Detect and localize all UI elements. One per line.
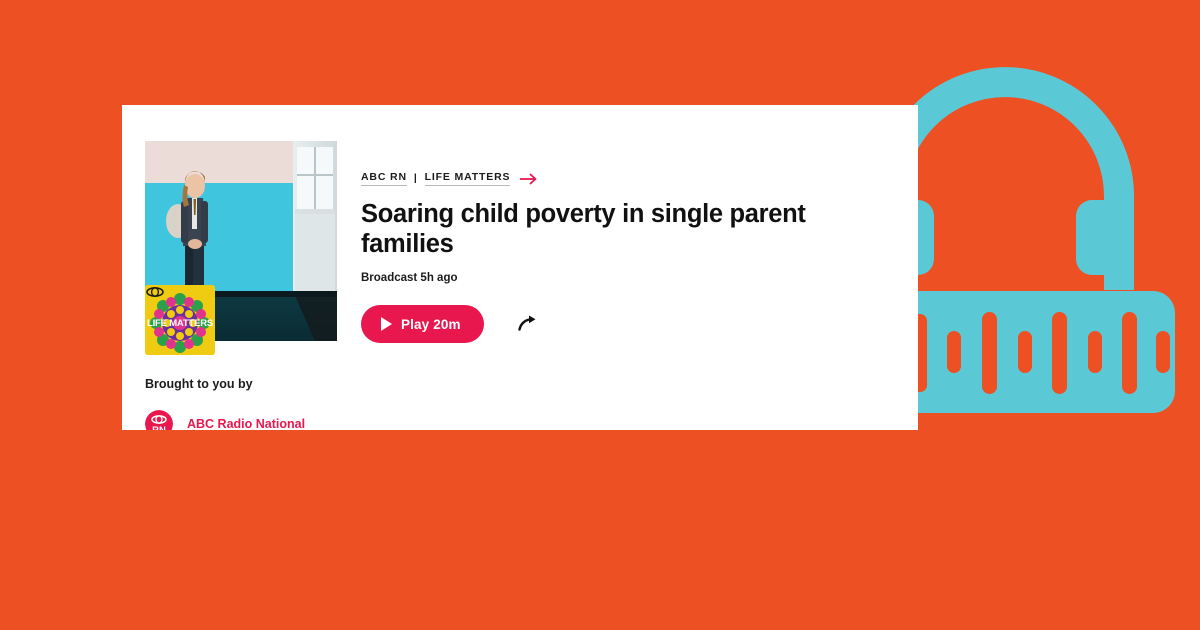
abc-radio-national-logo-icon: RN: [145, 410, 173, 430]
action-row: Play 20m: [361, 305, 891, 343]
share-arrow-icon: [518, 314, 538, 335]
podcast-badge[interactable]: LIFE MATTERS: [145, 285, 215, 355]
breadcrumb-separator: |: [414, 172, 418, 186]
link-abc-rn[interactable]: ABC RN: [361, 171, 407, 186]
broadcast-timestamp: Broadcast 5h ago: [361, 272, 891, 284]
sponsor-section: Brought to you by RN ABC Radio National: [145, 377, 545, 430]
breadcrumb: ABC RN | LIFE MATTERS: [361, 171, 891, 186]
play-triangle-icon: [381, 317, 392, 331]
sponsor-row[interactable]: RN ABC Radio National: [145, 410, 545, 430]
page-title: Soaring child poverty in single parent f…: [361, 199, 891, 259]
episode-thumbnail[interactable]: LIFE MATTERS: [145, 141, 337, 341]
headphones-icon: [888, 82, 1122, 290]
share-button[interactable]: [514, 310, 542, 339]
episode-details: ABC RN | LIFE MATTERS Soaring child pove…: [361, 171, 891, 343]
play-button[interactable]: Play 20m: [361, 305, 484, 343]
arrow-right-icon[interactable]: [520, 173, 538, 185]
podcast-episode-card: LIFE MATTERS ABC RN | LIFE MATTERS: [122, 105, 918, 430]
sponsor-label: Brought to you by: [145, 377, 545, 391]
podcast-badge-title: LIFE MATTERS: [147, 318, 213, 329]
rn-logo-text: RN: [152, 425, 166, 430]
link-life-matters[interactable]: LIFE MATTERS: [425, 171, 511, 186]
sponsor-name[interactable]: ABC Radio National: [187, 417, 305, 430]
play-button-label: Play 20m: [401, 317, 461, 332]
